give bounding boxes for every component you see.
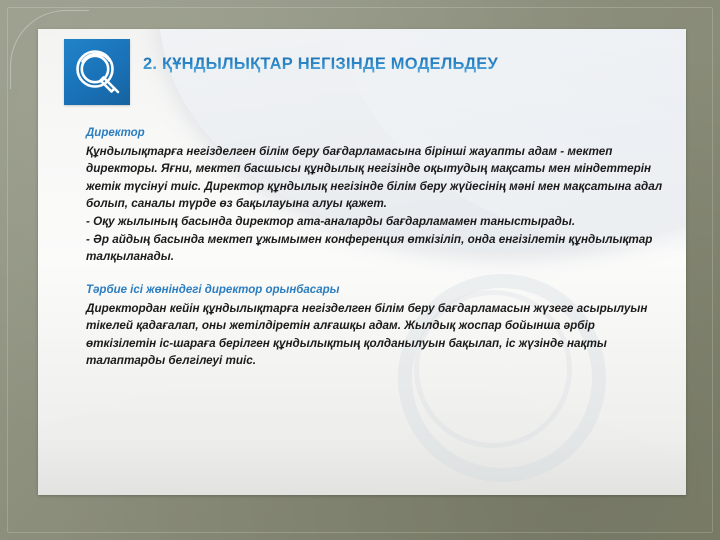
section-deputy-director: Тәрбие ісі жөніндегі директор орынбасары…	[86, 282, 666, 370]
section-heading-deputy-director: Тәрбие ісі жөніндегі директор орынбасары	[86, 282, 666, 299]
section-director: Директор Құндылықтарға негізделген білім…	[86, 125, 666, 266]
swoosh-decoration-lower	[38, 375, 686, 495]
section-paragraph-director: Құндылықтарға негізделген білім беру бағ…	[86, 143, 666, 266]
q-magnifier-logo-icon	[64, 39, 130, 105]
section-heading-director: Директор	[86, 125, 666, 142]
slide-header: 2. ҚҰНДЫЛЫҚТАР НЕГІЗІНДЕ МОДЕЛЬДЕУ	[38, 29, 686, 115]
section-paragraph-deputy-director: Директордан кейін құндылықтарға негіздел…	[86, 300, 666, 370]
section-spacer	[86, 266, 666, 282]
content-panel: 2. ҚҰНДЫЛЫҚТАР НЕГІЗІНДЕ МОДЕЛЬДЕУ Дирек…	[38, 29, 686, 495]
slide: 2. ҚҰНДЫЛЫҚТАР НЕГІЗІНДЕ МОДЕЛЬДЕУ Дирек…	[0, 0, 720, 540]
slide-body: Директор Құндылықтарға негізделген білім…	[86, 125, 666, 370]
page-title: 2. ҚҰНДЫЛЫҚТАР НЕГІЗІНДЕ МОДЕЛЬДЕУ	[143, 55, 663, 74]
